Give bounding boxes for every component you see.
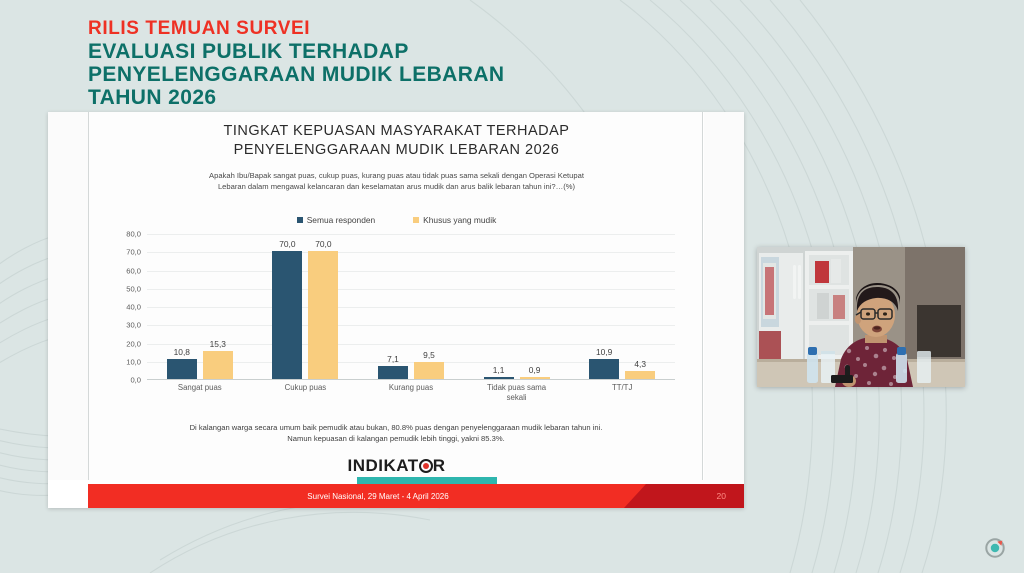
bar-slot: 10,9 <box>589 234 619 379</box>
slide-left-margin <box>48 112 88 480</box>
chart-y-axis: 80,070,060,050,040,030,020,010,00,0 <box>107 234 141 380</box>
y-axis-tick: 30,0 <box>126 321 141 330</box>
chart-footnote-line-1: Di kalangan warga secara umum baik pemud… <box>141 422 651 433</box>
legend-swatch-icon-series-1 <box>297 217 303 223</box>
y-axis-tick: 70,0 <box>126 248 141 257</box>
header-kicker: RILIS TEMUAN SURVEI <box>88 18 708 40</box>
slide-footer-source-text: Survei Nasional, 29 Maret - 4 April 2026 <box>88 484 668 508</box>
chart-question-line-2: Lebaran dalam mengawal kelancaran dan ke… <box>134 181 659 192</box>
y-axis-tick: 10,0 <box>126 357 141 366</box>
bar[interactable] <box>308 251 338 379</box>
header-title-line-1: EVALUASI PUBLIK TERHADAP <box>88 40 708 63</box>
presenter-video-feed[interactable] <box>757 247 965 387</box>
bar-group: 70,070,0 <box>272 234 338 379</box>
bar-value-label: 1,1 <box>493 365 505 375</box>
corner-watermark-logo <box>984 537 1006 559</box>
y-axis-tick: 60,0 <box>126 266 141 275</box>
y-axis-tick: 20,0 <box>126 339 141 348</box>
y-axis-tick: 50,0 <box>126 284 141 293</box>
x-axis-category-label: Kurang puas <box>375 383 447 403</box>
bar[interactable] <box>414 362 444 379</box>
chart-footnote: Di kalangan warga secara umum baik pemud… <box>141 422 651 444</box>
bar-slot: 70,0 <box>308 234 338 379</box>
bar-slot: 9,5 <box>414 234 444 379</box>
bar-slot: 0,9 <box>520 234 550 379</box>
bar[interactable] <box>520 377 550 379</box>
x-axis-category-label: Cukup puas <box>269 383 341 403</box>
presentation-slide: TINGKAT KEPUASAN MASYARAKAT TERHADAP PEN… <box>48 112 744 508</box>
chart-bars: 10,815,370,070,07,19,51,10,910,94,3 <box>147 234 675 379</box>
logo-target-icon <box>419 459 433 473</box>
bar[interactable] <box>203 351 233 379</box>
header-title-line-2: PENYELENGGARAAN MUDIK LEBARAN <box>88 63 708 86</box>
bar-slot: 70,0 <box>272 234 302 379</box>
bar-slot: 15,3 <box>203 234 233 379</box>
bar-slot: 4,3 <box>625 234 655 379</box>
indikator-logo: INDIKAT R <box>89 456 704 476</box>
header-block: RILIS TEMUAN SURVEI EVALUASI PUBLIK TERH… <box>88 18 708 109</box>
bar-value-label: 9,5 <box>423 350 435 360</box>
bar-value-label: 7,1 <box>387 354 399 364</box>
chart-x-axis: Sangat puasCukup puasKurang puasTidak pu… <box>147 383 675 403</box>
header-title-line-3: TAHUN 2026 <box>88 86 708 109</box>
bar-group: 10,815,3 <box>167 234 233 379</box>
chart-title-line-1: TINGKAT KEPUASAN MASYARAKAT TERHADAP <box>89 122 704 141</box>
bar-slot: 10,8 <box>167 234 197 379</box>
bar[interactable] <box>167 359 197 379</box>
video-frame-content <box>757 247 965 387</box>
y-axis-tick: 0,0 <box>130 376 141 385</box>
logo-text-left: INDIKAT <box>348 456 419 476</box>
legend-item-series-1: Semua responden <box>297 215 375 225</box>
slide-right-margin <box>704 112 744 480</box>
bar-group: 10,94,3 <box>589 234 655 379</box>
bar-value-label: 4,3 <box>634 359 646 369</box>
slide-content-area: TINGKAT KEPUASAN MASYARAKAT TERHADAP PEN… <box>88 112 703 480</box>
bar[interactable] <box>378 366 408 379</box>
bar[interactable] <box>589 359 619 379</box>
legend-swatch-icon-series-2 <box>413 217 419 223</box>
bar-value-label: 70,0 <box>315 239 331 249</box>
x-axis-category-label: Tidak puas sama sekali <box>481 383 553 403</box>
y-axis-tick: 40,0 <box>126 303 141 312</box>
chart-title-line-2: PENYELENGGARAAN MUDIK LEBARAN 2026 <box>89 141 704 160</box>
x-axis-category-label: TT/TJ <box>586 383 658 403</box>
bar-value-label: 10,8 <box>174 347 190 357</box>
chart-question-text: Apakah Ibu/Bapak sangat puas, cukup puas… <box>134 170 659 192</box>
bar-value-label: 15,3 <box>210 339 226 349</box>
bar-group: 7,19,5 <box>378 234 444 379</box>
bar[interactable] <box>272 251 302 379</box>
bar-group: 1,10,9 <box>484 234 550 379</box>
chart-plot-wrapper: 80,070,060,050,040,030,020,010,00,0 10,8… <box>107 234 687 409</box>
bar-slot: 7,1 <box>378 234 408 379</box>
legend-item-series-2: Khusus yang mudik <box>413 215 496 225</box>
legend-label-series-2: Khusus yang mudik <box>423 215 496 225</box>
chart-title: TINGKAT KEPUASAN MASYARAKAT TERHADAP PEN… <box>89 122 704 160</box>
legend-label-series-1: Semua responden <box>307 215 375 225</box>
slide-page-number: 20 <box>717 484 726 508</box>
bar[interactable] <box>625 371 655 379</box>
bar-value-label: 10,9 <box>596 347 612 357</box>
bar-value-label: 0,9 <box>529 365 541 375</box>
bar[interactable] <box>484 377 514 379</box>
screen-root: RILIS TEMUAN SURVEI EVALUASI PUBLIK TERH… <box>0 0 1024 573</box>
x-axis-category-label: Sangat puas <box>164 383 236 403</box>
indikator-logo-text: INDIKAT R <box>348 456 446 476</box>
bar-value-label: 70,0 <box>279 239 295 249</box>
logo-text-right: R <box>433 456 446 476</box>
bar-slot: 1,1 <box>484 234 514 379</box>
chart-legend: Semua responden Khusus yang mudik <box>89 215 704 225</box>
slide-footer-bar: Survei Nasional, 29 Maret - 4 April 2026… <box>88 484 744 508</box>
chart-question-line-1: Apakah Ibu/Bapak sangat puas, cukup puas… <box>134 170 659 181</box>
chart-plot-area: 10,815,370,070,07,19,51,10,910,94,3 <box>147 234 675 380</box>
y-axis-tick: 80,0 <box>126 230 141 239</box>
chart-footnote-line-2: Namun kepuasan di kalangan pemudik lebih… <box>141 433 651 444</box>
